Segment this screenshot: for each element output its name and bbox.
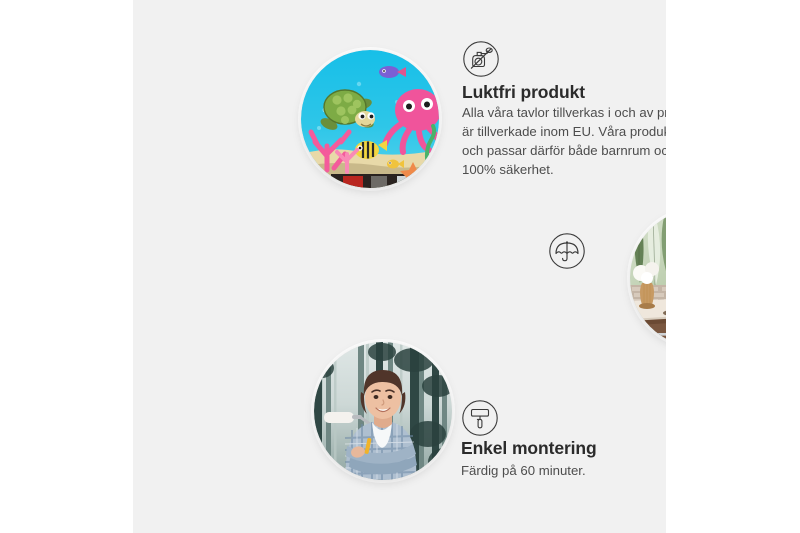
feature-title: Luktfri produkt — [462, 82, 585, 103]
underwater-illustration — [301, 50, 439, 188]
photo-circle-underwater — [301, 50, 439, 188]
umbrella-icon — [548, 232, 586, 270]
feature-title: Enkel montering — [461, 438, 597, 459]
photo-circle-forest — [314, 342, 452, 480]
photo-circle-bathroom — [630, 209, 666, 347]
feature-description: Färdig på 60 minuter. — [461, 461, 666, 480]
infographic-canvas: Luktfri produkt Alla våra tavlor tillver… — [0, 0, 800, 533]
bathroom-photo — [630, 209, 666, 347]
feature-description: Alla våra tavlor tillverkas i och av pro… — [462, 103, 666, 179]
content-panel: Luktfri produkt Alla våra tavlor tillver… — [133, 0, 666, 533]
paint-roller-icon — [461, 399, 499, 437]
no-odor-spray-bottle-icon — [462, 40, 500, 78]
forest-painter-photo — [314, 342, 452, 480]
